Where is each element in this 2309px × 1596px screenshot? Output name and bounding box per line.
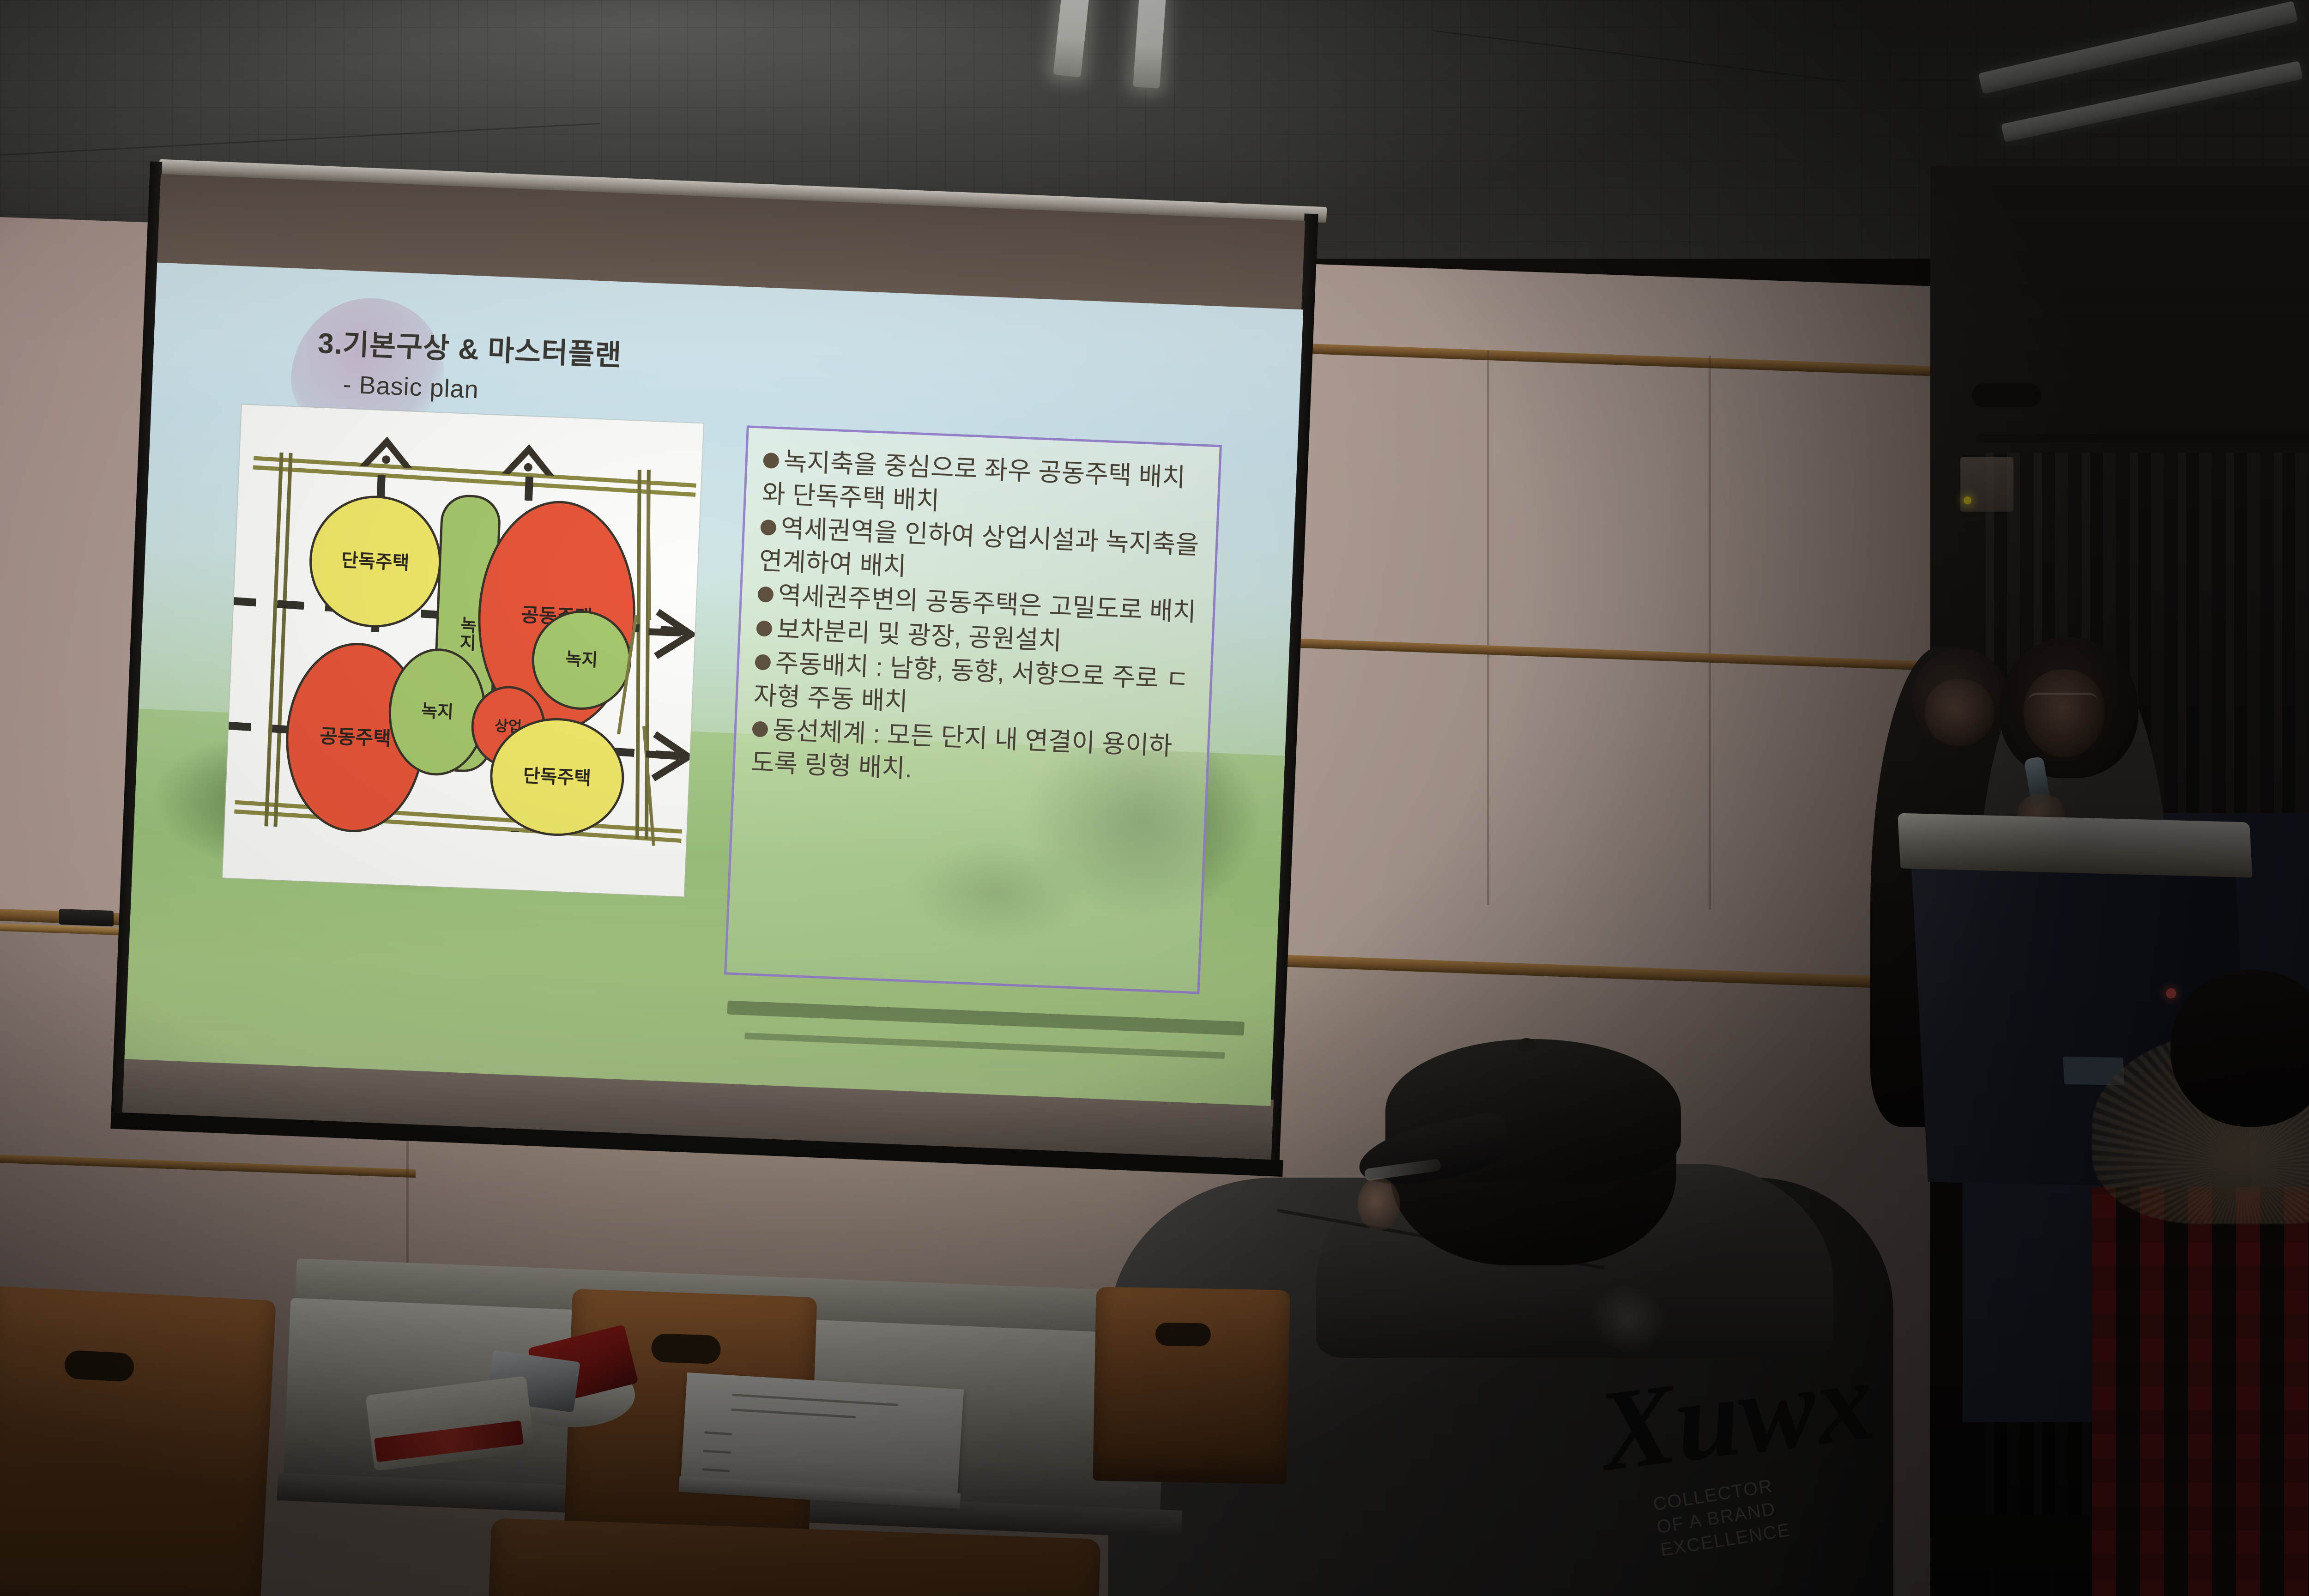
bullet-text: 녹지축을 중심으로 좌우 공동주택 배치와 단독주택 배치 — [762, 447, 1186, 515]
chair[interactable] — [1093, 1287, 1290, 1484]
ceiling-speaker — [1972, 383, 2041, 407]
classroom-presentation-photo: 3.기본구상 & 마스터플랜 - Basic plan — [0, 0, 2309, 1596]
handout-text-line — [704, 1431, 732, 1435]
presenter-speaker-face — [2024, 670, 2104, 757]
wall-panel-seam — [1709, 356, 1711, 910]
basic-plan-diagram: 단독주택 녹지 공동주택 녹지 공동주택 녹지 상업 단독주택 — [223, 405, 703, 896]
eraser — [59, 909, 114, 926]
road-horizontal-top — [254, 456, 696, 487]
bullet-dot-icon — [752, 721, 768, 737]
podium-top-surface — [1898, 813, 2252, 878]
bullet-dot-icon — [757, 586, 774, 603]
bullet-dot-icon — [756, 620, 772, 636]
road-vertical-left — [264, 453, 283, 827]
cap-button — [1517, 1038, 1536, 1052]
chair-handle-cutout — [64, 1350, 134, 1382]
handout-text-line — [732, 1394, 898, 1406]
handout-text-line — [731, 1409, 856, 1418]
audience-member-fur-hood — [2092, 970, 2309, 1596]
curtain-rod — [1977, 434, 2309, 442]
chair-handle-cutout — [651, 1333, 721, 1364]
chair-handle-cutout — [1155, 1323, 1211, 1347]
presenter-glasses — [2028, 693, 2097, 711]
bullet-dot-icon — [760, 520, 776, 536]
handout-text-line — [702, 1468, 730, 1472]
flow-arrow-icon — [647, 604, 703, 666]
chair[interactable] — [0, 1286, 276, 1596]
status-led-indicator — [1964, 496, 1971, 504]
bullet-dot-icon — [755, 654, 771, 670]
road-vertical-right — [635, 470, 641, 839]
slide-bullet-textbox: 녹지축을 중심으로 좌우 공동주택 배치와 단독주택 배치 역세권역을 인하여 … — [724, 425, 1222, 994]
bullet-dot-icon — [763, 453, 779, 469]
plaid-jacket — [2092, 1187, 2309, 1596]
audience-ear — [1358, 1178, 1400, 1231]
handout-text-line — [703, 1450, 731, 1454]
wall-panel-seam — [1487, 351, 1489, 905]
projected-slide: 3.기본구상 & 마스터플랜 - Basic plan — [125, 263, 1304, 1106]
presenter-second-face — [1925, 679, 1994, 746]
